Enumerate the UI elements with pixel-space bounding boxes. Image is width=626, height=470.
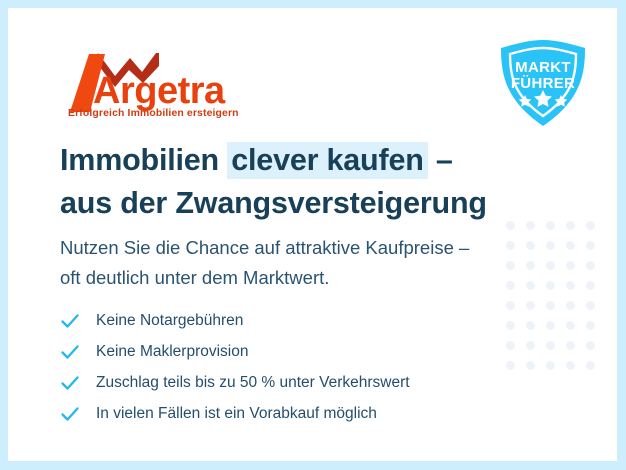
headline-line2: aus der Zwangsversteigerung: [60, 184, 530, 222]
argetra-logo[interactable]: Argetra Erfolgreich Immobilien ersteiger…: [60, 46, 260, 116]
subtitle: Nutzen Sie die Chance auf attraktive Kau…: [60, 233, 540, 293]
decoration-dot: [546, 361, 555, 370]
badge-line2: FÜHRER: [511, 75, 575, 92]
decoration-dot: [586, 361, 595, 370]
decoration-dot: [566, 341, 575, 350]
decoration-dot: [566, 301, 575, 310]
decoration-dot: [586, 261, 595, 270]
check-icon: [60, 404, 80, 424]
list-item: Keine Notargebühren: [60, 305, 530, 336]
check-icon: [60, 373, 80, 393]
check-icon: [60, 311, 80, 331]
decoration-dot: [546, 261, 555, 270]
decoration-dot: [586, 241, 595, 250]
list-item-label: Zuschlag teils bis zu 50 % unter Verkehr…: [96, 374, 410, 392]
decoration-dot: [566, 221, 575, 230]
logo-tagline: Erfolgreich Immobilien ersteigern: [68, 108, 239, 118]
decoration-dot: [526, 221, 535, 230]
decoration-dot: [566, 321, 575, 330]
headline-part1: Immobilien: [60, 143, 227, 177]
list-item-label: In vielen Fällen ist ein Vorabkauf mögli…: [96, 405, 377, 423]
badge-line1: MARKT: [515, 59, 571, 76]
list-item: Zuschlag teils bis zu 50 % unter Verkehr…: [60, 367, 530, 398]
headline-highlight: clever kaufen: [227, 142, 427, 179]
decoration-dot: [546, 281, 555, 290]
logo-wordmark: Argetra: [93, 70, 226, 112]
check-icon: [60, 342, 80, 362]
decoration-dot: [586, 221, 595, 230]
decoration-dot: [566, 261, 575, 270]
decoration-dot: [566, 281, 575, 290]
list-item-label: Keine Maklerprovision: [96, 343, 249, 361]
decoration-dot: [506, 221, 515, 230]
page-title: Immobilien clever kaufen – aus der Zwang…: [60, 141, 530, 222]
subtitle-line2: oft deutlich unter dem Marktwert.: [60, 263, 540, 293]
banner-canvas: Argetra Erfolgreich Immobilien ersteiger…: [8, 8, 617, 461]
decoration-dot: [546, 341, 555, 350]
decoration-dot: [546, 241, 555, 250]
decoration-dot: [586, 321, 595, 330]
decoration-dot: [566, 361, 575, 370]
subtitle-line1: Nutzen Sie die Chance auf attraktive Kau…: [60, 233, 540, 263]
decoration-dot: [586, 341, 595, 350]
promo-banner: Argetra Erfolgreich Immobilien ersteiger…: [0, 0, 626, 470]
decoration-dot: [586, 281, 595, 290]
headline-part2: –: [428, 143, 453, 177]
list-item-label: Keine Notargebühren: [96, 312, 243, 330]
list-item: Keine Maklerprovision: [60, 336, 530, 367]
decoration-dot: [546, 301, 555, 310]
list-item: In vielen Fällen ist ein Vorabkauf mögli…: [60, 398, 530, 429]
decoration-dot: [586, 301, 595, 310]
decoration-dot: [546, 221, 555, 230]
decoration-dot: [566, 241, 575, 250]
markt-fuehrer-badge: MARKT FÜHRER: [495, 38, 591, 128]
benefits-list: Keine Notargebühren Keine Maklerprovisio…: [60, 305, 530, 429]
decoration-dot: [546, 321, 555, 330]
